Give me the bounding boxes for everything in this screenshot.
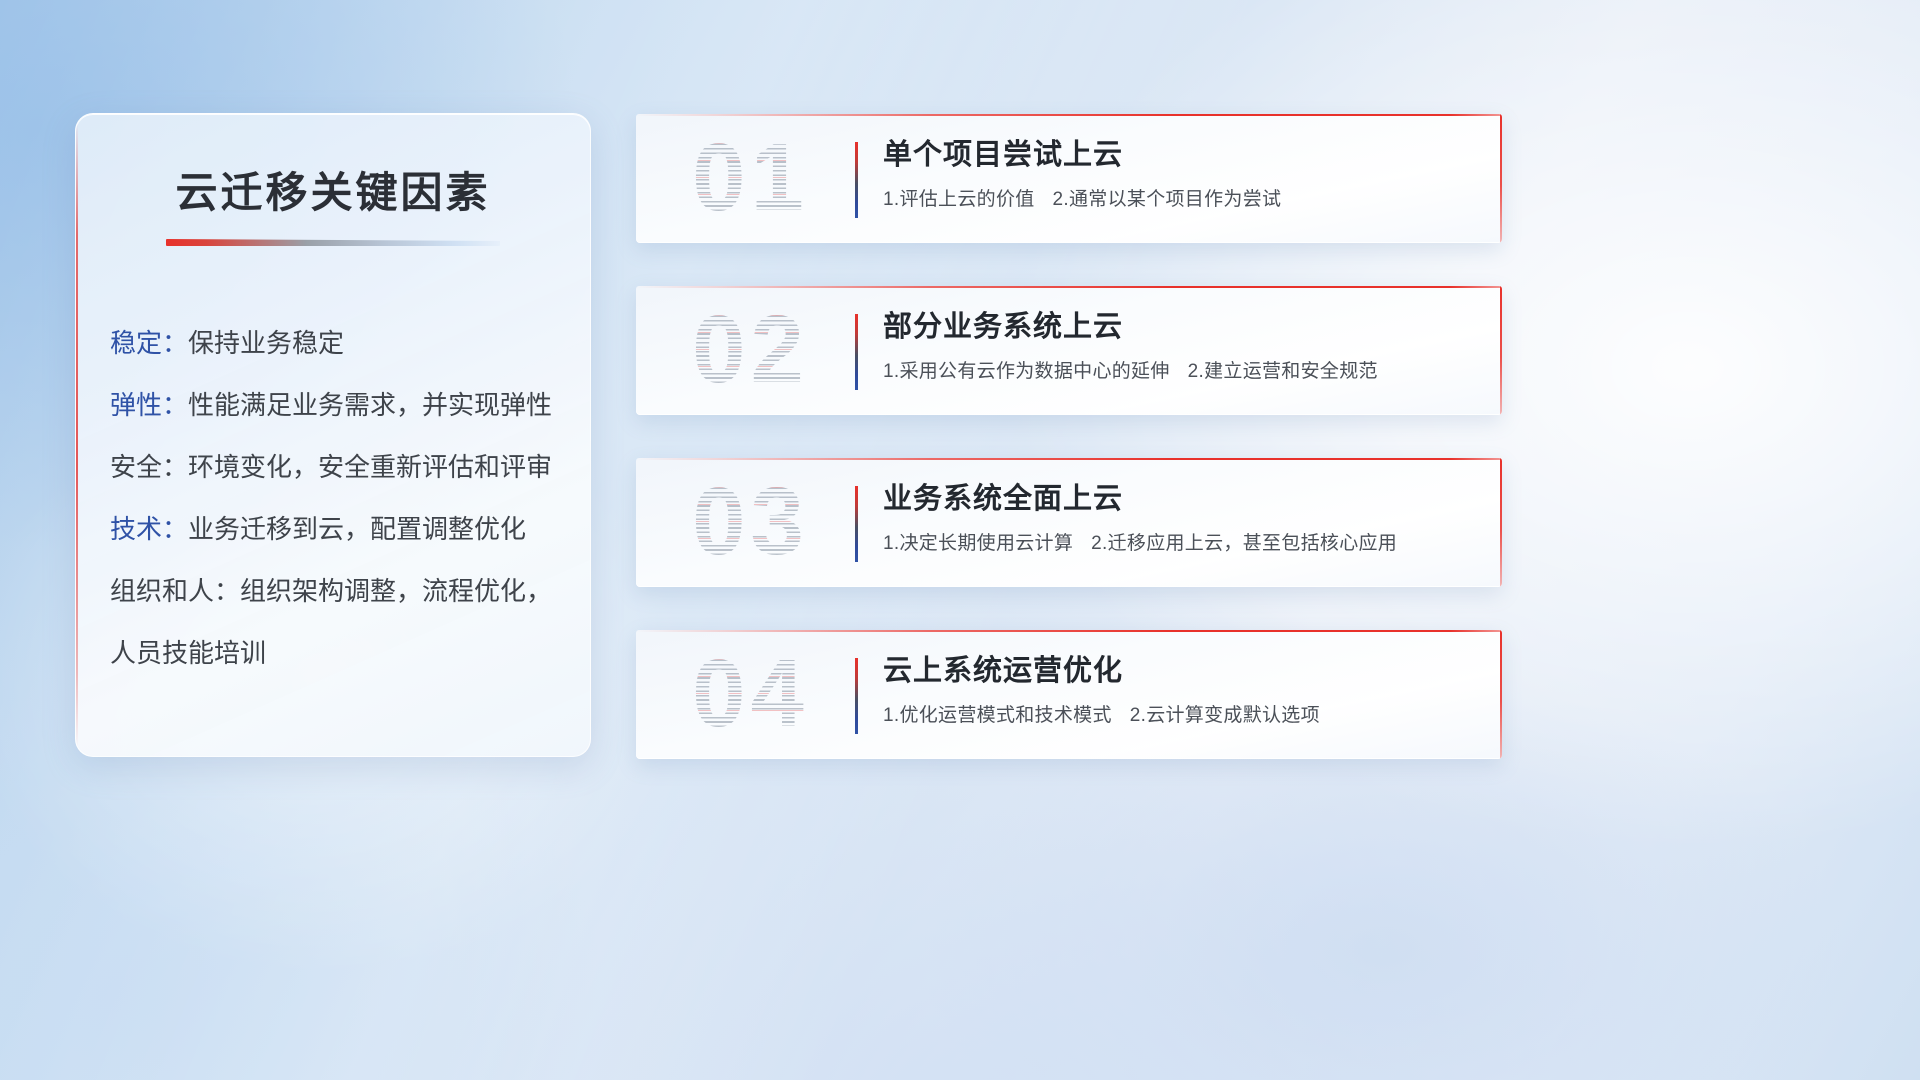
stage-card[interactable]: 0202部分业务系统上云1.采用公有云作为数据中心的延伸2.建立运营和安全规范 <box>636 286 1502 415</box>
stage-description-item-1: 1.决定长期使用云计算 <box>883 533 1073 554</box>
stage-number-tint: 04 <box>658 642 843 746</box>
stage-card-body: 单个项目尝试上云1.评估上云的价值2.通常以某个项目作为尝试 <box>883 134 1476 213</box>
key-factors-panel: 云迁移关键因素 稳定：保持业务稳定弹性：性能满足业务需求，并实现弹性安全：环境变… <box>75 113 591 757</box>
factor-item: 安全：环境变化，安全重新评估和评审 <box>110 436 580 498</box>
stage-description: 1.评估上云的价值2.通常以某个项目作为尝试 <box>883 187 1476 213</box>
stage-description-item-1: 1.评估上云的价值 <box>883 189 1035 210</box>
stage-description: 1.优化运营模式和技术模式2.云计算变成默认选项 <box>883 703 1476 729</box>
factor-item: 稳定：保持业务稳定 <box>110 312 580 374</box>
stage-description-item-2: 2.迁移应用上云，甚至包括核心应用 <box>1091 533 1397 554</box>
stage-description: 1.采用公有云作为数据中心的延伸2.建立运营和安全规范 <box>883 359 1476 385</box>
stage-description-item-2: 2.云计算变成默认选项 <box>1130 705 1320 726</box>
factor-key: 技术： <box>110 514 188 544</box>
accent-bar <box>855 142 858 218</box>
factor-key: 弹性： <box>110 390 188 420</box>
title-underline-accent <box>166 239 500 246</box>
factor-text: 环境变化，安全重新评估和评审 <box>188 452 552 482</box>
stage-card-body: 业务系统全面上云1.决定长期使用云计算2.迁移应用上云，甚至包括核心应用 <box>883 478 1476 557</box>
stage-heading: 单个项目尝试上云 <box>883 134 1476 176</box>
page-title: 云迁移关键因素 <box>76 159 590 220</box>
factor-key: 稳定： <box>110 328 188 358</box>
stage-description-item-1: 1.采用公有云作为数据中心的延伸 <box>883 361 1170 382</box>
accent-bar <box>855 314 858 390</box>
stage-heading: 部分业务系统上云 <box>883 306 1476 348</box>
factor-text: 组织架构调整，流程优化， <box>240 576 552 606</box>
factor-item: 组织和人：组织架构调整，流程优化， <box>110 560 580 622</box>
stage-number-tint: 02 <box>658 298 843 402</box>
accent-bar <box>855 486 858 562</box>
stage-card[interactable]: 0101单个项目尝试上云1.评估上云的价值2.通常以某个项目作为尝试 <box>636 114 1502 243</box>
factor-list: 稳定：保持业务稳定弹性：性能满足业务需求，并实现弹性安全：环境变化，安全重新评估… <box>110 312 580 684</box>
factor-key: 安全： <box>110 452 188 482</box>
stage-card-list: 0101单个项目尝试上云1.评估上云的价值2.通常以某个项目作为尝试0202部分… <box>636 114 1502 802</box>
factor-text: 保持业务稳定 <box>188 328 344 358</box>
stage-number-tint: 03 <box>658 470 843 574</box>
stage-card[interactable]: 0303业务系统全面上云1.决定长期使用云计算2.迁移应用上云，甚至包括核心应用 <box>636 458 1502 587</box>
stage-description-item-2: 2.通常以某个项目作为尝试 <box>1053 189 1282 210</box>
stage-card-body: 云上系统运营优化1.优化运营模式和技术模式2.云计算变成默认选项 <box>883 650 1476 729</box>
stage-card-body: 部分业务系统上云1.采用公有云作为数据中心的延伸2.建立运营和安全规范 <box>883 306 1476 385</box>
factor-item: 技术：业务迁移到云，配置调整优化 <box>110 498 580 560</box>
accent-bar <box>855 658 858 734</box>
factor-item: 弹性：性能满足业务需求，并实现弹性 <box>110 374 580 436</box>
stage-description-item-2: 2.建立运营和安全规范 <box>1188 361 1378 382</box>
factor-key: 组织和人： <box>110 576 240 606</box>
factor-text: 性能满足业务需求，并实现弹性 <box>188 390 552 420</box>
factor-text: 人员技能培训 <box>110 638 266 668</box>
stage-heading: 云上系统运营优化 <box>883 650 1476 692</box>
stage-number-tint: 01 <box>658 126 843 230</box>
slide-canvas: 云迁移关键因素 稳定：保持业务稳定弹性：性能满足业务需求，并实现弹性安全：环境变… <box>0 0 1920 1080</box>
stage-description-item-1: 1.优化运营模式和技术模式 <box>883 705 1112 726</box>
stage-card[interactable]: 0404云上系统运营优化1.优化运营模式和技术模式2.云计算变成默认选项 <box>636 630 1502 759</box>
stage-heading: 业务系统全面上云 <box>883 478 1476 520</box>
factor-text: 业务迁移到云，配置调整优化 <box>188 514 526 544</box>
factor-item: 人员技能培训 <box>110 622 580 684</box>
stage-description: 1.决定长期使用云计算2.迁移应用上云，甚至包括核心应用 <box>883 531 1476 557</box>
